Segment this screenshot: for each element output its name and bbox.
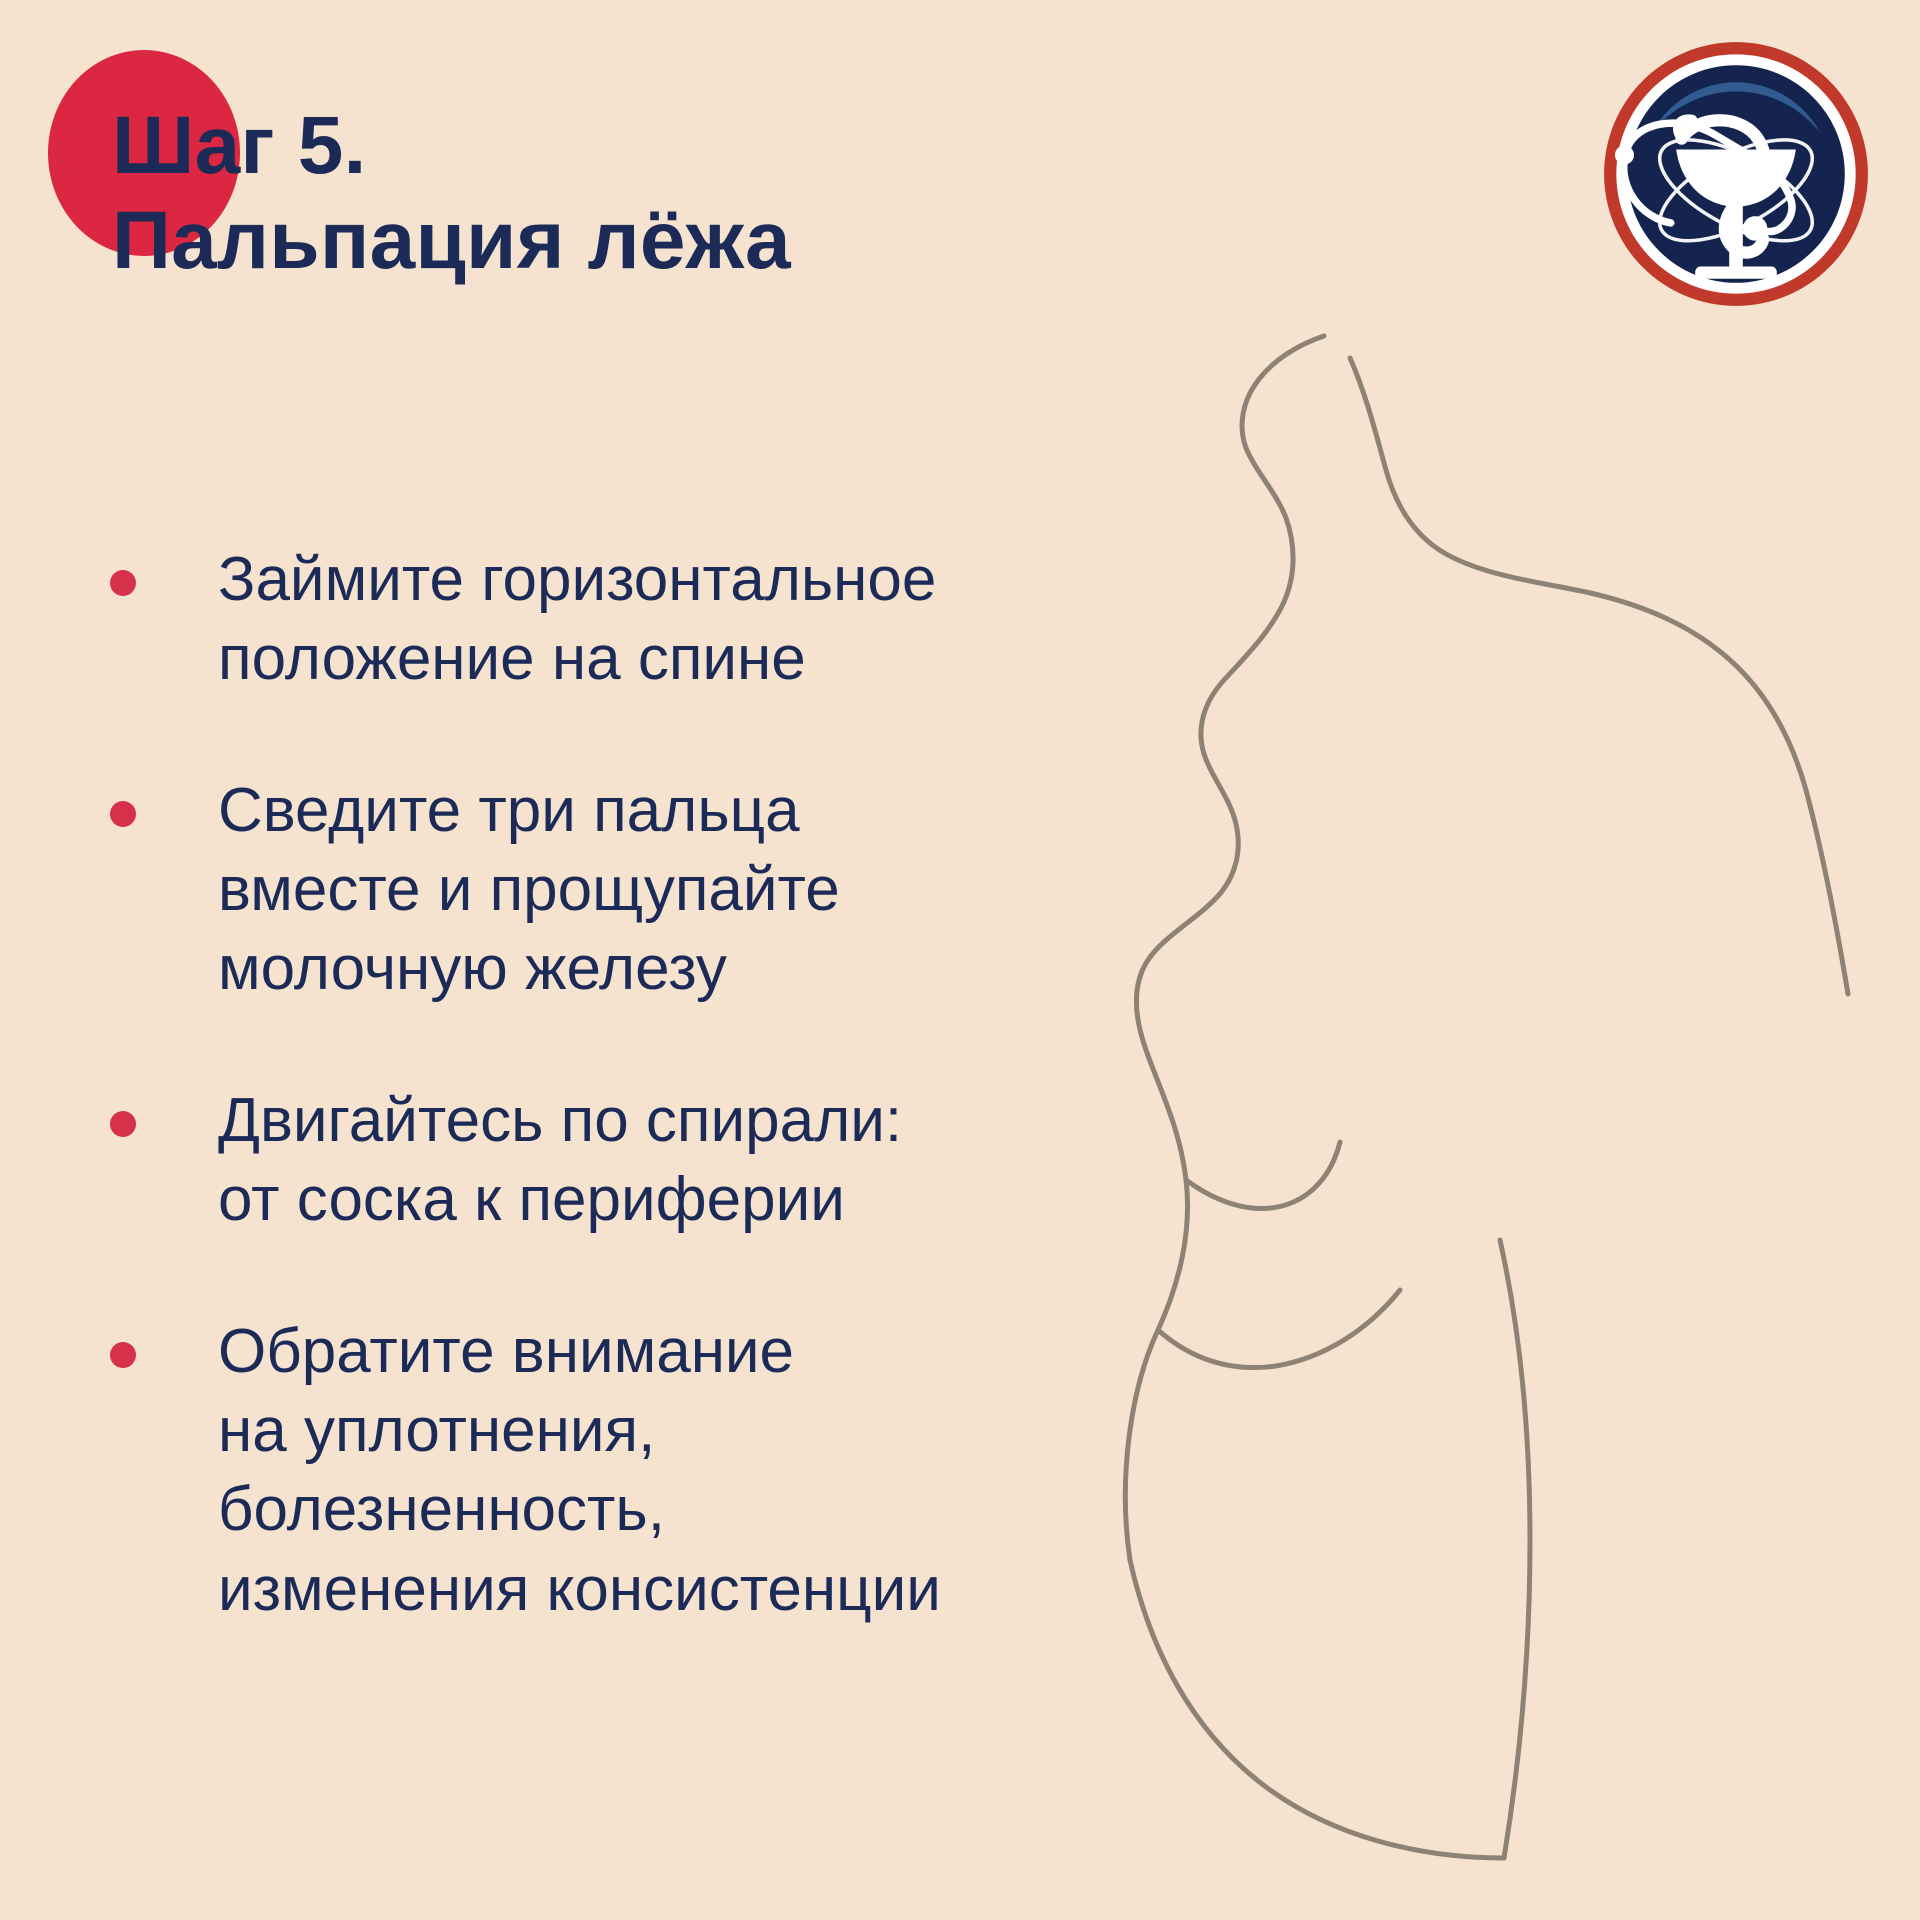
list-item-label: Сведите три пальца вместе и прощупайте м… — [218, 771, 1150, 1009]
list-item: Двигайтесь по спирали: от соска к перифе… — [110, 1081, 1150, 1240]
list-item: Обратите внимание на уплотнения, болезне… — [110, 1312, 1150, 1629]
instruction-list: Займите горизонтальное положение на спин… — [110, 540, 1150, 1629]
list-item-label: Двигайтесь по спирали: от соска к перифе… — [218, 1081, 1150, 1240]
medical-emblem-logo — [1600, 38, 1872, 310]
infographic-slide: Шаг 5. Пальпация лёжа Займите горизонтал… — [0, 0, 1920, 1920]
bullet-dot-icon — [110, 1342, 136, 1368]
title-line-1: Шаг 5. — [112, 98, 1262, 193]
bullet-dot-icon — [110, 801, 136, 827]
female-torso-back-outline — [1100, 330, 1900, 1870]
bullet-dot-icon — [110, 1111, 136, 1137]
list-item-label: Обратите внимание на уплотнения, болезне… — [218, 1312, 1150, 1629]
page-title: Шаг 5. Пальпация лёжа — [112, 98, 1262, 288]
list-item: Сведите три пальца вместе и прощупайте м… — [110, 771, 1150, 1009]
list-item: Займите горизонтальное положение на спин… — [110, 540, 1150, 699]
title-line-2: Пальпация лёжа — [112, 193, 1262, 288]
bullet-dot-icon — [110, 570, 136, 596]
list-item-label: Займите горизонтальное положение на спин… — [218, 540, 1150, 699]
